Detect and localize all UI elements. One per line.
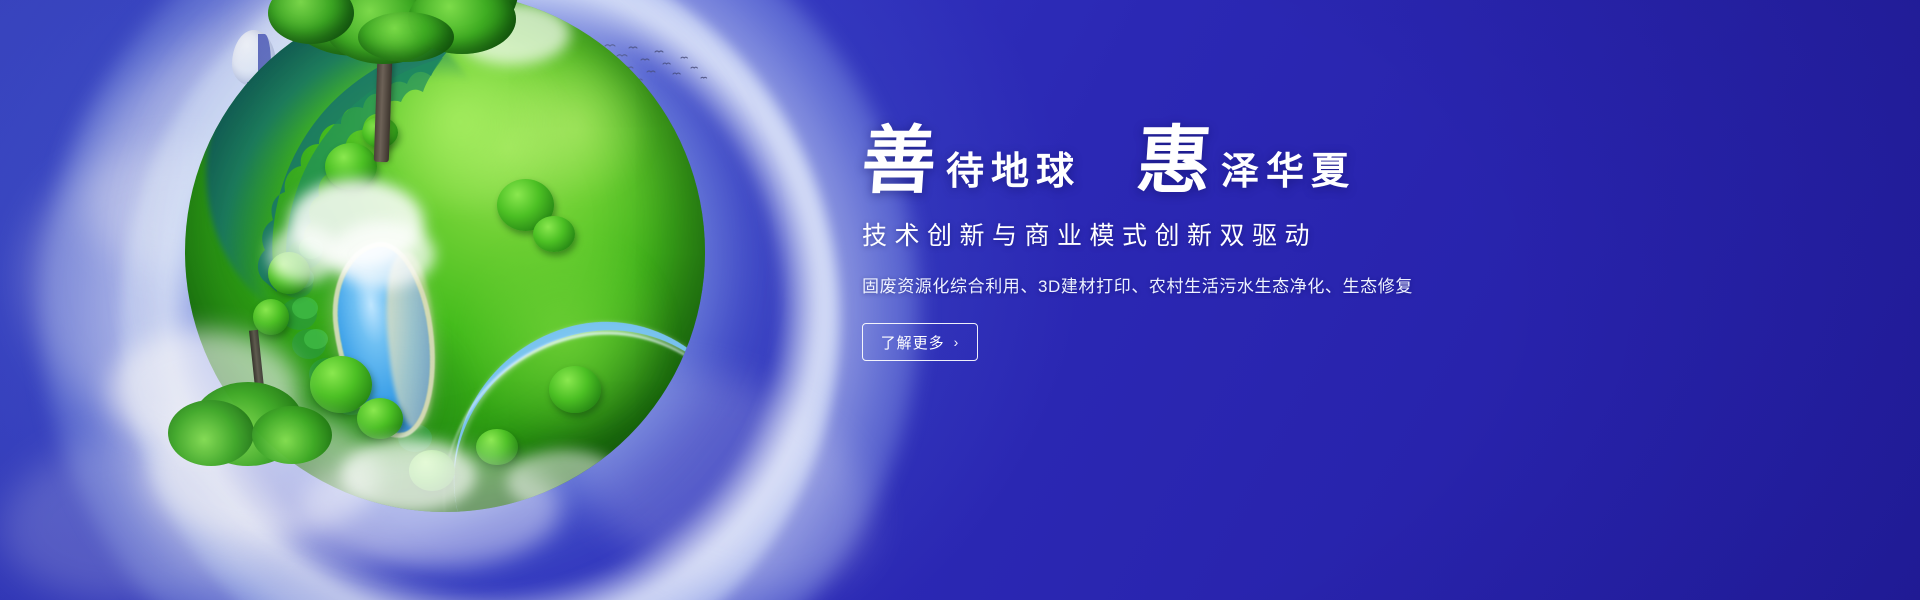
headline-char-hui: 惠: [1135, 126, 1214, 196]
learn-more-label: 了解更多: [881, 332, 945, 353]
tree-canopy: [358, 12, 454, 62]
headline-char-shan: 善: [860, 126, 939, 196]
learn-more-button[interactable]: 了解更多 ›: [862, 323, 978, 361]
headline-rest-one: 待地球: [936, 152, 1081, 196]
chevron-right-icon: ›: [954, 335, 960, 349]
hero-tree-icon: [228, 0, 528, 188]
bush: [533, 216, 575, 252]
hero-headline: 善 待地球 惠 泽华夏: [862, 126, 1562, 196]
secondary-tree-icon: [168, 330, 348, 510]
surface-cloud: [268, 226, 341, 283]
hero-content: 善 待地球 惠 泽华夏 技术创新与商业模式创新双驱动 固废资源化综合利用、3D建…: [862, 126, 1562, 361]
surface-cloud: [331, 221, 435, 289]
headline-rest-two: 泽华夏: [1211, 152, 1356, 196]
hero-subtitle: 技术创新与商业模式创新双驱动: [862, 216, 1562, 252]
tree-canopy: [252, 406, 332, 464]
bush: [549, 366, 601, 413]
hero-banner: 善 待地球 惠 泽华夏 技术创新与商业模式创新双驱动 固废资源化综合利用、3D建…: [0, 0, 1920, 600]
hero-description: 固废资源化综合利用、3D建材打印、农村生活污水生态净化、生态修复: [862, 272, 1562, 297]
tree-canopy: [168, 400, 254, 466]
